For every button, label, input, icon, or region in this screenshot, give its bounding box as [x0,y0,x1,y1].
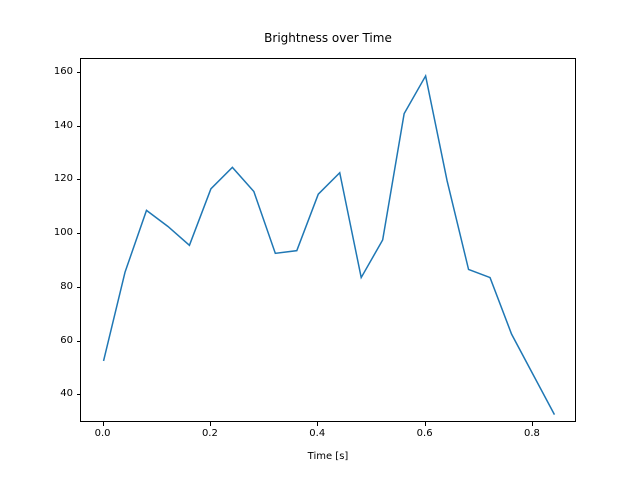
x-tick-label: 0.8 [512,428,552,440]
x-tick-mark [210,422,211,426]
x-axis-label: Time [s] [80,451,576,463]
x-tick-mark [103,422,104,426]
plot-area [81,59,575,422]
y-tick-label: 80 [33,281,73,293]
y-tick-label: 160 [33,66,73,78]
plot-axes-frame [80,58,576,423]
x-tick-label: 0.4 [297,428,337,440]
y-tick-label: 60 [33,335,73,347]
x-tick-mark [532,422,533,426]
y-tick-label: 120 [33,173,73,185]
x-tick-label: 0.2 [190,428,230,440]
figure-canvas: Brightness over Time Brightness Time [s]… [0,0,640,480]
brightness-line-series [104,76,555,415]
x-tick-mark [317,422,318,426]
y-tick-label: 140 [33,120,73,132]
x-tick-mark [425,422,426,426]
x-tick-label: 0.6 [405,428,445,440]
y-tick-label: 100 [33,227,73,239]
chart-title: Brightness over Time [80,31,576,45]
y-axis-label: Brightness [13,0,27,72]
x-tick-label: 0.0 [83,428,123,440]
y-tick-label: 40 [33,388,73,400]
